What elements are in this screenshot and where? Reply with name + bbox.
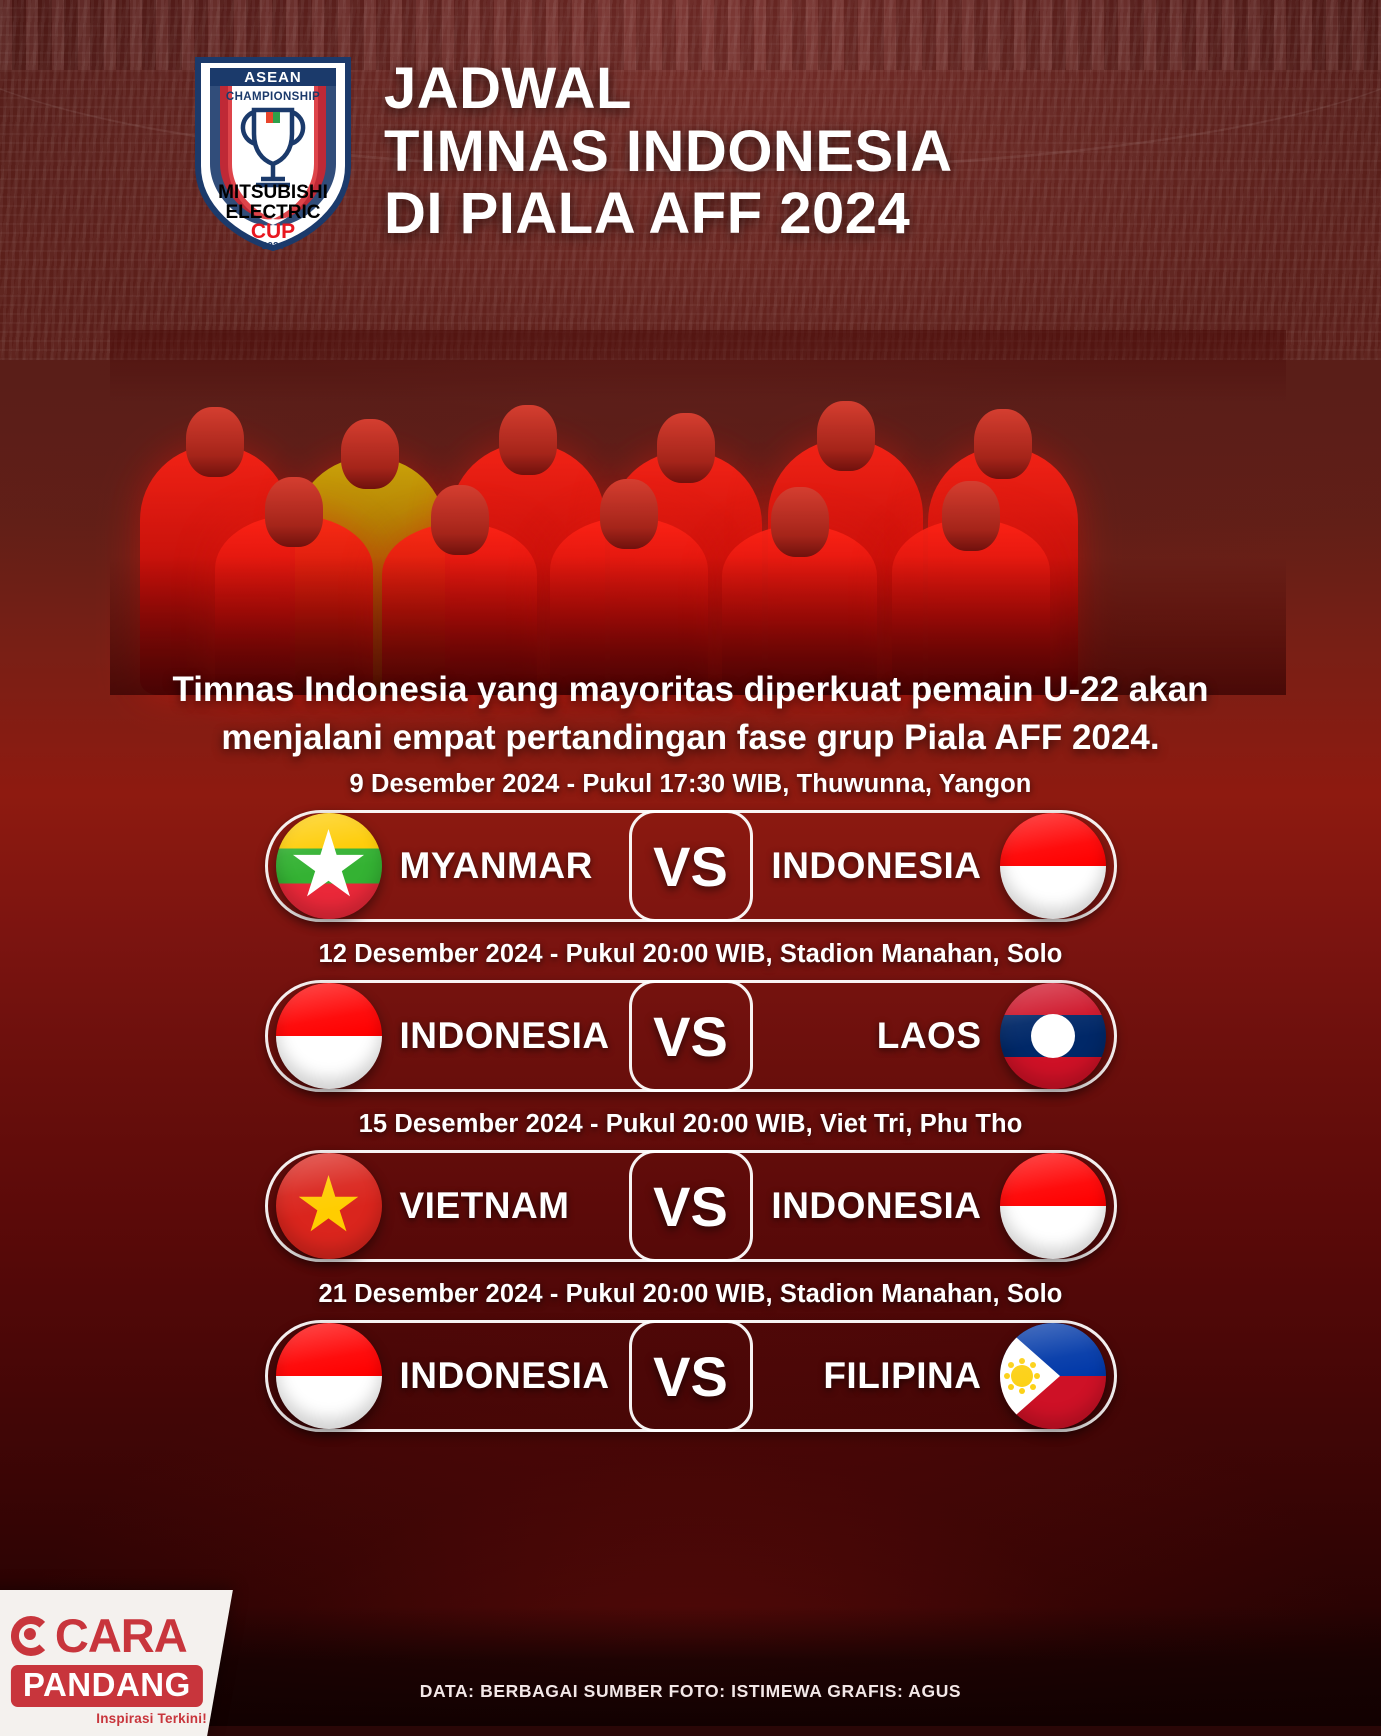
vs-badge: VS xyxy=(629,980,753,1092)
intro-line-2: menjalani empat pertandingan fase grup P… xyxy=(120,714,1261,762)
indonesia-flag-icon xyxy=(1000,813,1106,919)
vs-label: VS xyxy=(653,1344,728,1409)
match-row[interactable]: INDONESIA VS FILIPINA xyxy=(265,1320,1117,1432)
aff-mitsubishi-electric-cup-logo: ASEAN CHAMPIONSHIP MITSUBISHI ELECTRIC C… xyxy=(188,48,358,253)
myanmar-flag-icon xyxy=(276,813,382,919)
away-team-name: FILIPINA xyxy=(823,1355,981,1397)
svg-text:2024: 2024 xyxy=(262,241,285,252)
title-line-3: DI PIALA AFF 2024 xyxy=(384,183,953,246)
indonesia-flag-icon xyxy=(1000,1153,1106,1259)
vs-label: VS xyxy=(653,1174,728,1239)
match-row[interactable]: MYANMAR VS INDONESIA xyxy=(265,810,1117,922)
title-line-1: JADWAL xyxy=(384,58,953,121)
home-team: MYANMAR xyxy=(274,813,626,919)
home-team-name: INDONESIA xyxy=(400,1015,610,1057)
match-date: 12 Desember 2024 - Pukul 20:00 WIB, Stad… xyxy=(0,940,1381,969)
match-date: 15 Desember 2024 - Pukul 20:00 WIB, Viet… xyxy=(0,1110,1381,1139)
match-item: 21 Desember 2024 - Pukul 20:00 WIB, Stad… xyxy=(0,1280,1381,1432)
home-team: INDONESIA xyxy=(274,983,626,1089)
home-team-name: VIETNAM xyxy=(400,1185,570,1227)
vs-badge: VS xyxy=(629,1150,753,1262)
away-team: LAOS xyxy=(756,983,1108,1089)
credits-line: DATA: BERBAGAI SUMBER FOTO: ISTIMEWA GRA… xyxy=(0,1681,1381,1702)
match-row[interactable]: VIETNAM VS INDONESIA xyxy=(265,1150,1117,1262)
title-line-2: TIMNAS INDONESIA xyxy=(384,121,953,184)
laos-flag-icon xyxy=(1000,983,1106,1089)
page-title: JADWAL TIMNAS INDONESIA DI PIALA AFF 202… xyxy=(384,48,953,246)
philippines-flag-icon xyxy=(1000,1323,1106,1429)
match-row[interactable]: INDONESIA VS LAOS xyxy=(265,980,1117,1092)
svg-text:MITSUBISHI: MITSUBISHI xyxy=(218,182,328,203)
logo-cara-text: CARA xyxy=(55,1612,187,1659)
home-team: INDONESIA xyxy=(274,1323,626,1429)
logo-tagline: Inspirasi Terkini! xyxy=(11,1711,221,1726)
logo-cara-row: CARA xyxy=(11,1612,221,1659)
svg-text:CHAMPIONSHIP: CHAMPIONSHIP xyxy=(226,91,320,103)
away-team: FILIPINA xyxy=(756,1323,1108,1429)
indonesia-flag-icon xyxy=(276,1323,382,1429)
cara-pandang-mark-icon xyxy=(11,1616,51,1656)
svg-text:CUP: CUP xyxy=(251,220,295,243)
away-team-name: INDONESIA xyxy=(771,1185,981,1227)
vs-badge: VS xyxy=(629,810,753,922)
home-team-name: INDONESIA xyxy=(400,1355,610,1397)
vs-label: VS xyxy=(653,1004,728,1069)
match-item: 9 Desember 2024 - Pukul 17:30 WIB, Thuwu… xyxy=(0,770,1381,922)
home-team-name: MYANMAR xyxy=(400,845,593,887)
match-schedule-list: 9 Desember 2024 - Pukul 17:30 WIB, Thuwu… xyxy=(0,770,1381,1450)
match-date: 9 Desember 2024 - Pukul 17:30 WIB, Thuwu… xyxy=(0,770,1381,799)
match-item: 15 Desember 2024 - Pukul 20:00 WIB, Viet… xyxy=(0,1110,1381,1262)
away-team-name: LAOS xyxy=(877,1015,982,1057)
cara-pandang-logo[interactable]: CARA PANDANG Inspirasi Terkini! xyxy=(0,1590,233,1736)
vietnam-flag-icon xyxy=(276,1153,382,1259)
intro-paragraph: Timnas Indonesia yang mayoritas diperkua… xyxy=(0,666,1381,763)
away-team: INDONESIA xyxy=(756,1153,1108,1259)
away-team-name: INDONESIA xyxy=(771,845,981,887)
home-team: VIETNAM xyxy=(274,1153,626,1259)
indonesia-flag-icon xyxy=(276,983,382,1089)
svg-text:ASEAN: ASEAN xyxy=(244,69,302,86)
match-item: 12 Desember 2024 - Pukul 20:00 WIB, Stad… xyxy=(0,940,1381,1092)
away-team: INDONESIA xyxy=(756,813,1108,919)
vs-label: VS xyxy=(653,834,728,899)
poster-header: ASEAN CHAMPIONSHIP MITSUBISHI ELECTRIC C… xyxy=(188,48,953,253)
vs-badge: VS xyxy=(629,1320,753,1432)
team-photo xyxy=(110,330,1286,695)
intro-line-1: Timnas Indonesia yang mayoritas diperkua… xyxy=(120,666,1261,714)
match-date: 21 Desember 2024 - Pukul 20:00 WIB, Stad… xyxy=(0,1280,1381,1309)
